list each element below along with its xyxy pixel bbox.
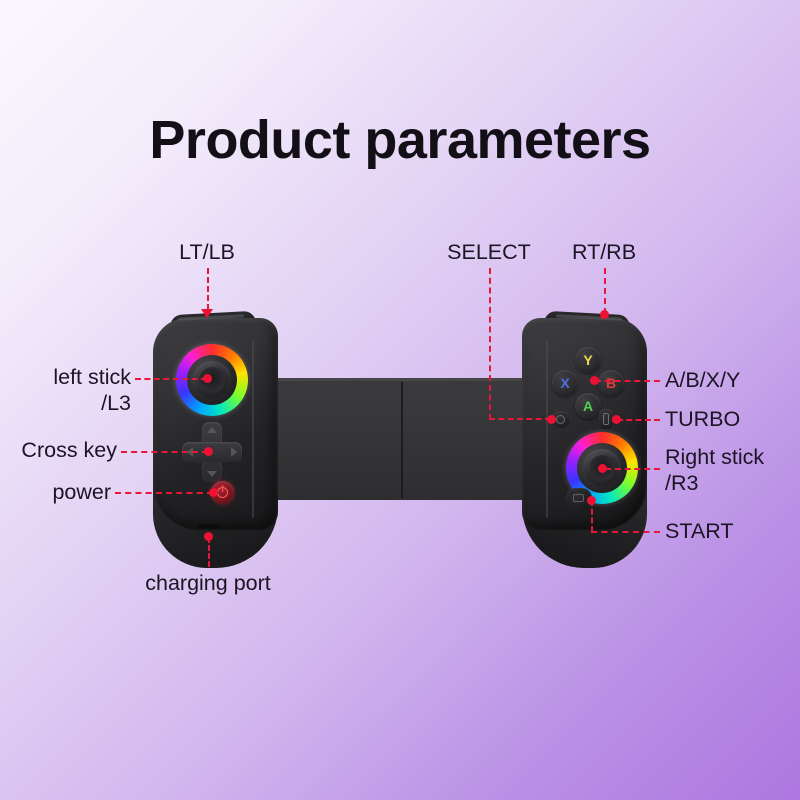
- leader-dot-abxy: [590, 376, 599, 385]
- turbo-button: [599, 409, 613, 429]
- face-button-x: X: [552, 370, 578, 396]
- leader-line-select-vertical: [489, 268, 491, 420]
- leader-dot-power: [209, 488, 218, 497]
- callout-label-select: SELECT: [434, 239, 544, 265]
- leader-arrow-lt-lb: [201, 309, 213, 318]
- leader-line-left-stick: [135, 378, 207, 380]
- callout-label-left-stick: left stick /L3: [0, 364, 131, 416]
- face-button-b: B: [598, 370, 624, 396]
- leader-line-charging-port: [208, 537, 210, 567]
- leader-dot-charging-port: [204, 532, 213, 541]
- leader-line-start-horizontal: [591, 531, 660, 533]
- callout-label-cross-key: Cross key: [0, 437, 117, 463]
- leader-line-power: [115, 492, 213, 494]
- face-button-y: Y: [575, 347, 601, 373]
- callout-label-right-stick: Right stick /R3: [665, 444, 800, 496]
- face-button-a: A: [575, 393, 601, 419]
- turbo-icon: [603, 413, 609, 425]
- bridge-highlight: [250, 378, 556, 381]
- leader-dot-left-stick: [203, 374, 212, 383]
- leader-line-rt-rb: [604, 268, 606, 314]
- select-icon: [556, 415, 565, 424]
- leader-dot-select: [547, 415, 556, 424]
- leader-dot-start: [587, 496, 596, 505]
- power-icon: [217, 487, 228, 498]
- left-grip-seam: [252, 340, 254, 518]
- start-icon: [573, 494, 584, 502]
- leader-dot-turbo: [612, 415, 621, 424]
- dpad-up-arrow-icon: [207, 427, 217, 433]
- leader-dot-right-stick: [598, 464, 607, 473]
- leader-line-select-horizontal: [489, 418, 551, 420]
- leader-line-turbo: [617, 419, 660, 421]
- left-analog-stick: [176, 344, 248, 416]
- callout-label-power: power: [0, 479, 111, 505]
- leader-dot-rt-rb: [600, 310, 609, 319]
- leader-line-cross-key: [121, 451, 208, 453]
- right-grip-seam: [546, 340, 548, 518]
- dpad-down-arrow-icon: [207, 471, 217, 477]
- bridge-seam: [401, 382, 403, 498]
- leader-line-lt-lb: [207, 268, 209, 310]
- leader-line-abxy: [595, 380, 660, 382]
- charging-port: [198, 524, 220, 529]
- dpad-right-arrow-icon: [231, 447, 237, 457]
- callout-label-rt-rb: RT/RB: [549, 239, 659, 265]
- callout-label-start: START: [665, 518, 800, 544]
- controller-bridge: [248, 378, 558, 500]
- callout-label-charging-port: charging port: [118, 570, 298, 596]
- callout-label-turbo: TURBO: [665, 406, 800, 432]
- callout-label-abxy: A/B/X/Y: [665, 367, 800, 393]
- callout-label-lt-lb: LT/LB: [152, 239, 262, 265]
- product-parameters-infographic: Product parameters: [0, 0, 800, 800]
- leader-dot-cross-key: [204, 447, 213, 456]
- leader-line-right-stick: [605, 468, 660, 470]
